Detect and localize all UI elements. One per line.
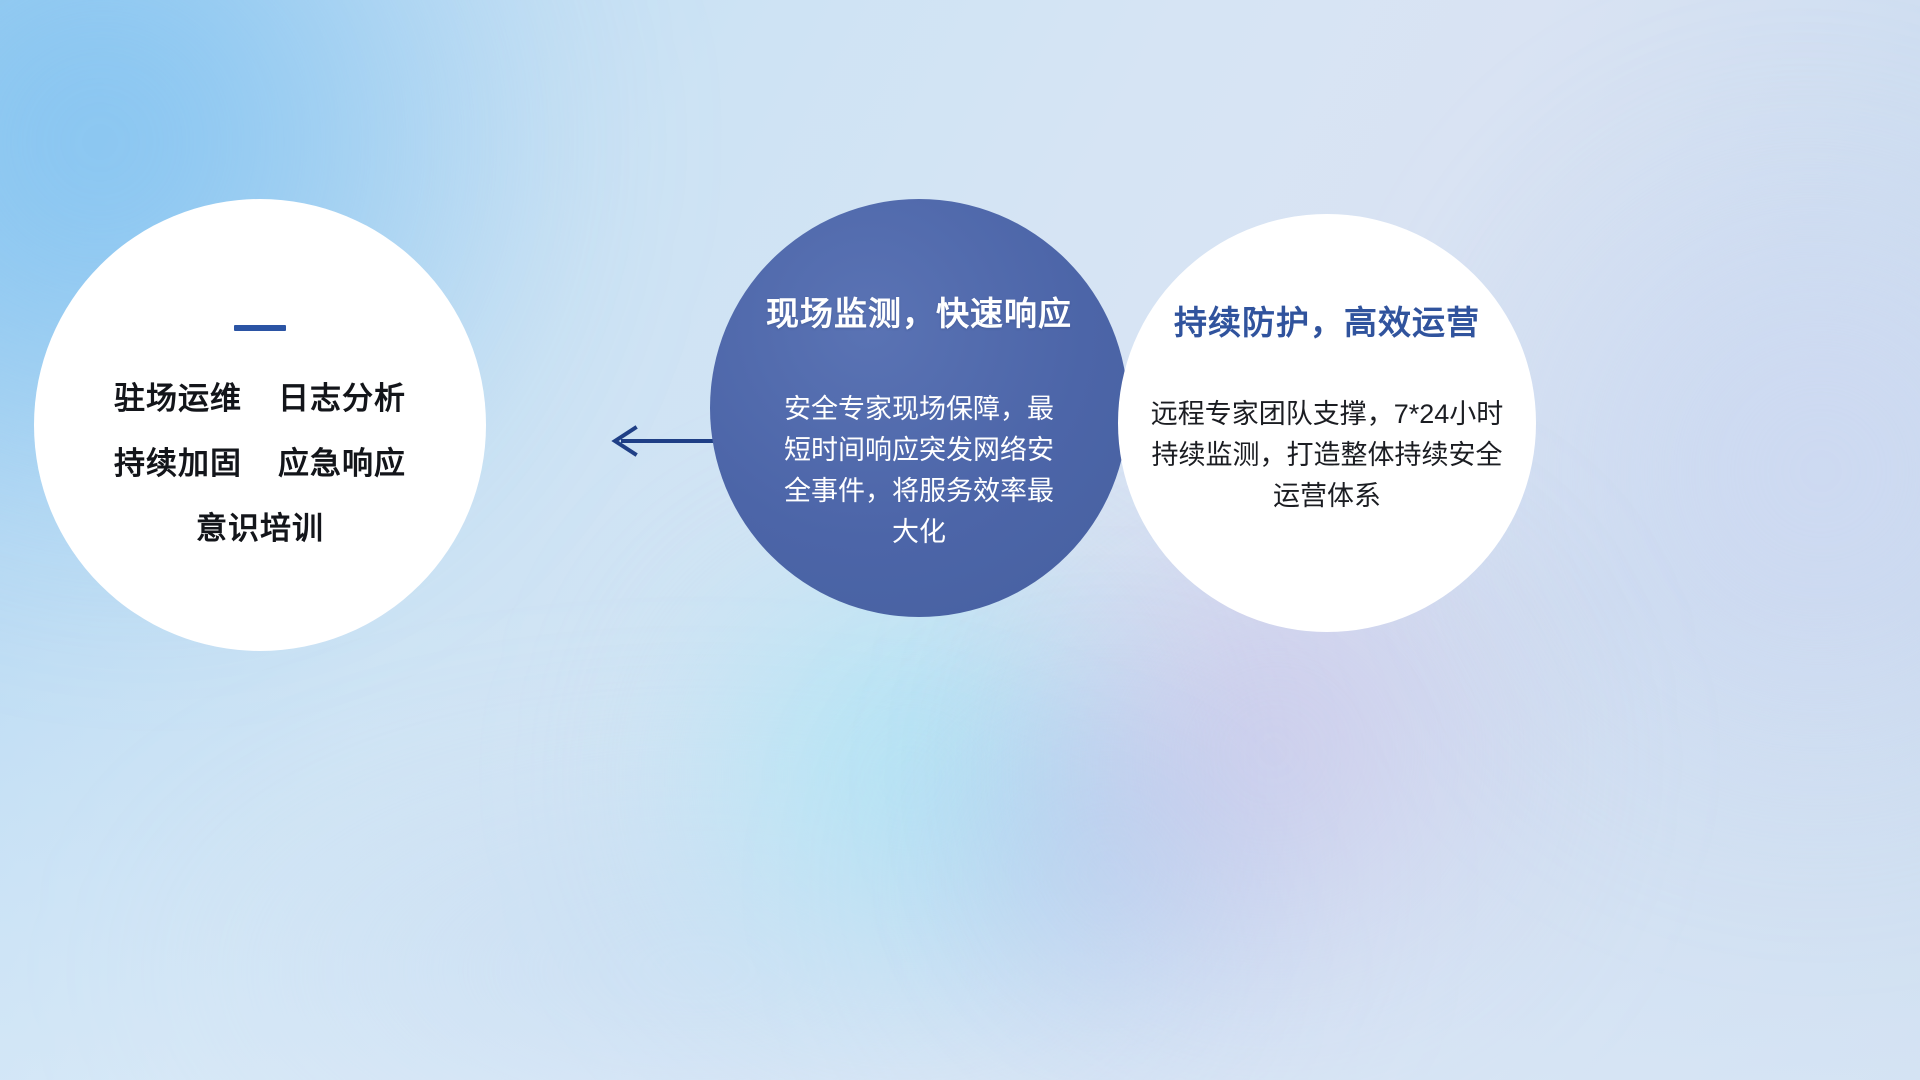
- capability-row: 驻场运维 日志分析: [114, 373, 406, 418]
- capability-item: 意识培训: [196, 503, 324, 548]
- capability-row: 持续加固 应急响应: [114, 438, 406, 483]
- right-circle-title: 持续防护，高效运营: [1174, 296, 1480, 344]
- middle-circle-body: 安全专家现场保障，最短时间响应突发网络安全事件，将服务效率最大化: [774, 389, 1064, 553]
- capability-row: 意识培训: [196, 503, 324, 548]
- capability-item: 持续加固: [114, 438, 242, 483]
- capability-item: 驻场运维: [114, 373, 242, 418]
- right-operations-circle: 持续防护，高效运营 远程专家团队支撑，7*24小时持续监测，打造整体持续安全运营…: [1118, 214, 1536, 632]
- middle-circle-title: 现场监测，快速响应: [766, 287, 1072, 335]
- divider-dash: [234, 325, 286, 331]
- capability-list: 驻场运维 日志分析 持续加固 应急响应 意识培训: [34, 373, 486, 548]
- middle-onsite-circle: 现场监测，快速响应 安全专家现场保障，最短时间响应突发网络安全事件，将服务效率最…: [710, 199, 1128, 617]
- right-circle-body: 远程专家团队支撑，7*24小时持续监测，打造整体持续安全运营体系: [1147, 394, 1507, 517]
- capability-item: 日志分析: [278, 373, 406, 418]
- left-capability-circle: 驻场运维 日志分析 持续加固 应急响应 意识培训: [34, 199, 486, 651]
- capability-item: 应急响应: [278, 438, 406, 483]
- slide-canvas: 驻场运维 日志分析 持续加固 应急响应 意识培训 现场监测，快速响应 安全专家现…: [0, 0, 1920, 1080]
